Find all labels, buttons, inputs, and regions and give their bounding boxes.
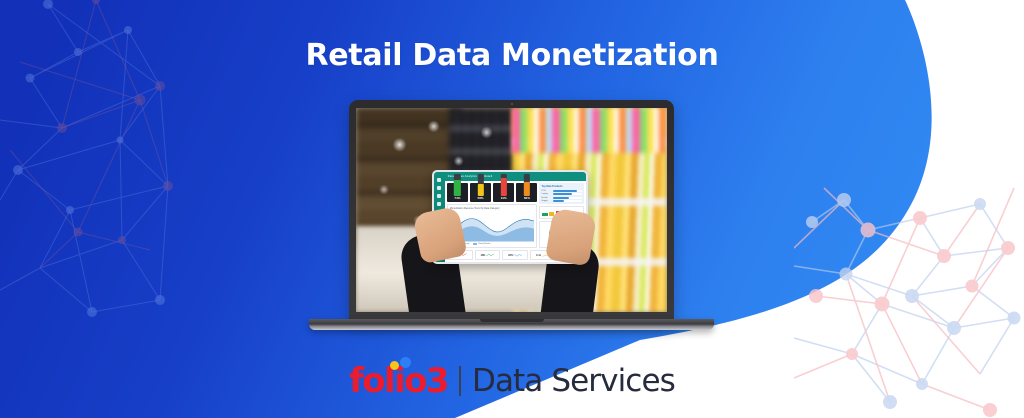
side-row-track [553, 200, 581, 202]
laptop-screen: Retail Sales Analytics Dashboard [356, 108, 667, 312]
side-row-label: POS [541, 190, 551, 192]
bar [542, 213, 547, 216]
kpi-card[interactable]: 58% [470, 183, 491, 202]
side-row-fill [553, 197, 568, 199]
kpi-card-row: 74% 58% [447, 183, 538, 202]
camera-dot-icon [511, 103, 513, 105]
logo-lockup[interactable]: folio3 Data Services [0, 364, 1024, 398]
sparkline-icon [514, 253, 522, 257]
side-row-label: Basket [541, 197, 551, 199]
side-row: Loyalty [541, 193, 581, 195]
metric-tile[interactable]: 48K [475, 250, 501, 260]
side-row: Basket [541, 197, 581, 199]
kpi-gauge-fill [501, 178, 507, 197]
rail-grid-icon[interactable] [437, 194, 441, 198]
side-row-label: Loyalty [541, 193, 551, 195]
grocery-aisle-photo: Retail Sales Analytics Dashboard [356, 108, 667, 312]
metric-tile-value: 92% [508, 254, 513, 257]
rail-gear-icon[interactable] [437, 202, 441, 206]
metric-tile-value: 3.4x [536, 254, 541, 257]
kpi-gauge-fill [524, 182, 530, 197]
laptop-lid: Retail Sales Analytics Dashboard [349, 100, 674, 322]
legend-item: Retail Media [473, 243, 490, 246]
kpi-value: 31% [501, 196, 507, 200]
metric-tile-value: 48K [481, 254, 486, 257]
kpi-gauge-track [524, 174, 530, 196]
legend-swatch [473, 243, 477, 246]
logo-divider [459, 366, 461, 396]
kpi-value: 58% [478, 196, 484, 200]
kpi-gauge-fill [454, 180, 460, 196]
area-chart-title: Monetization Revenue Trend by Data Categ… [450, 207, 535, 210]
legend-label: Retail Media [478, 243, 490, 245]
side-row-track [553, 193, 581, 195]
laptop-base [309, 319, 714, 330]
side-row-fill [553, 200, 564, 202]
kpi-gauge-track [454, 174, 460, 196]
laptop-device: Retail Sales Analytics Dashboard [309, 100, 714, 335]
kpi-card[interactable]: 31% [493, 183, 514, 202]
rail-menu-icon[interactable] [437, 178, 441, 182]
hand-right [545, 208, 597, 267]
rail-chart-icon[interactable] [437, 186, 441, 190]
kpi-card[interactable]: 66% [516, 183, 537, 202]
side-row: Supply [541, 200, 581, 202]
product-name: Data Services [472, 366, 675, 397]
sparkline-icon [486, 253, 494, 257]
side-row-track [553, 190, 581, 192]
side-row-fill [553, 190, 576, 192]
side-row-fill [553, 193, 572, 195]
side-row: POS [541, 190, 581, 192]
kpi-value: 66% [524, 196, 530, 200]
kpi-card[interactable]: 74% [447, 183, 468, 202]
kpi-gauge-fill [477, 184, 483, 197]
page-title: Retail Data Monetization [0, 38, 1024, 73]
dashboard-title: Retail Sales Analytics Dashboard [445, 172, 586, 181]
top-data-products-card: Top Data Products POS [539, 183, 583, 204]
kpi-gauge-track [477, 174, 483, 196]
kpi-gauge-track [501, 174, 507, 196]
side-card-heading: Top Data Products [541, 185, 581, 188]
banner-root: Retail Data Monetization [0, 0, 1024, 418]
folio3-logo[interactable]: folio3 [349, 364, 448, 398]
side-row-track [553, 197, 581, 199]
metric-tile[interactable]: 92% [502, 250, 528, 260]
kpi-value: 74% [454, 196, 460, 200]
side-row-label: Supply [541, 200, 551, 202]
